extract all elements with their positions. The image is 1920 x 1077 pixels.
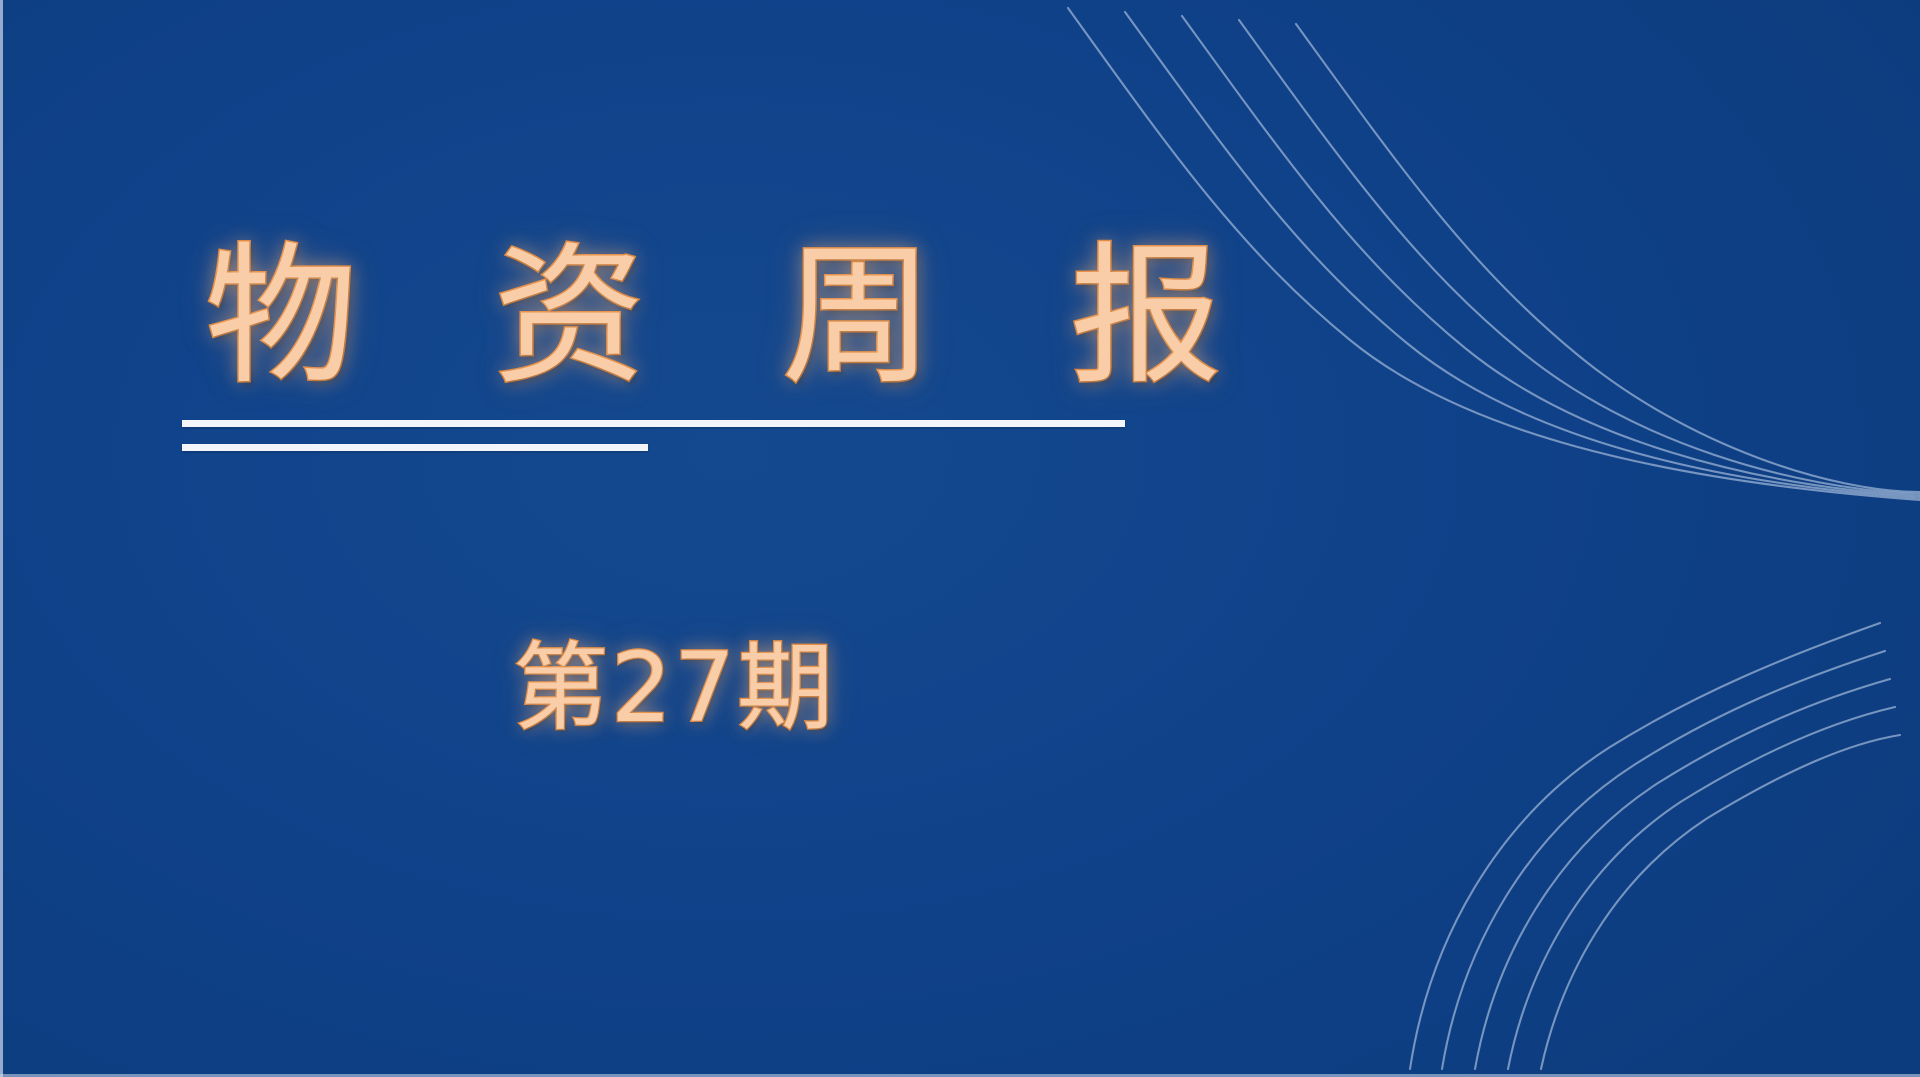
title-rules: [182, 420, 1182, 466]
title-rule-short: [182, 444, 648, 451]
flowing-lines-bottom-right-decoration: [1260, 607, 1920, 1077]
deco-curve-br-2: [1442, 651, 1885, 1069]
page-title: 物 资 周 报: [182, 232, 1182, 402]
title-slide: 物 资 周 报 第27期: [0, 0, 1920, 1077]
deco-curve-br-1: [1410, 623, 1880, 1069]
deco-curve-br-3: [1475, 679, 1890, 1069]
title-rule-long: [182, 420, 1125, 427]
issue-subtitle: 第27期: [182, 632, 1166, 745]
deco-curve-tr-4: [1239, 20, 1920, 494]
deco-curve-br-4: [1508, 707, 1895, 1069]
deco-curve-tr-3: [1182, 16, 1920, 496]
flowing-lines-bottom-right-svg: [1260, 607, 1920, 1077]
deco-curve-tr-5: [1296, 24, 1920, 492]
slide-edge-left: [0, 0, 3, 1077]
title-block: 物 资 周 报: [182, 232, 1182, 466]
deco-curve-br-5: [1541, 735, 1900, 1069]
